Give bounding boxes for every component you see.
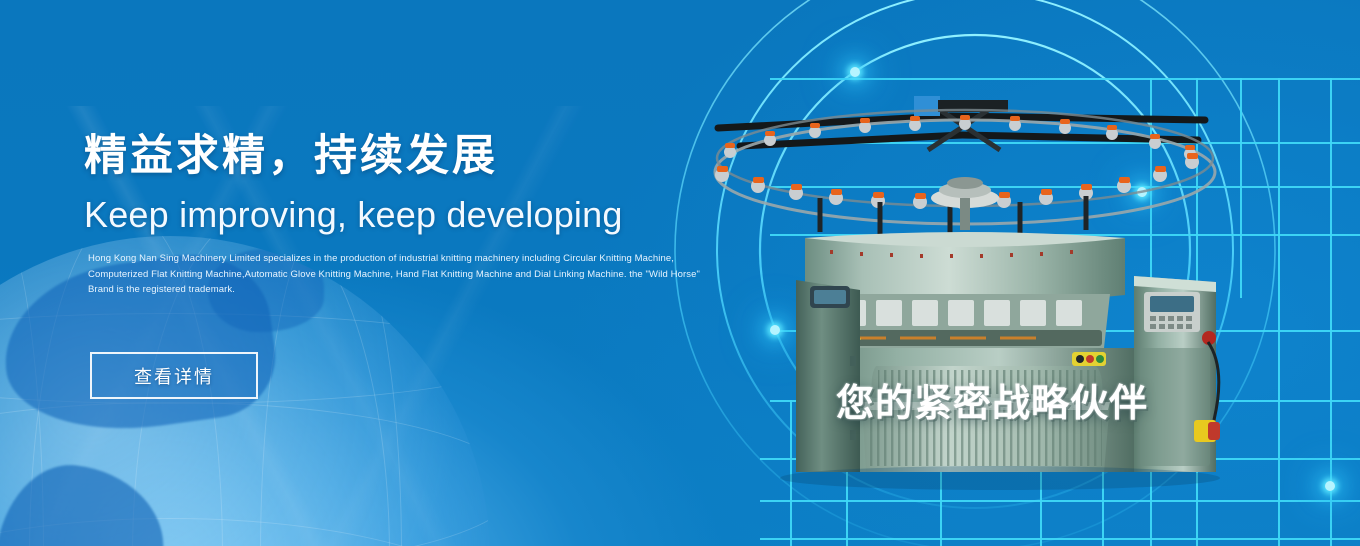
view-details-button[interactable]: 查看详情 bbox=[90, 352, 258, 399]
hero-copy-block: 精益求精，持续发展 Keep improving, keep developin… bbox=[84, 132, 724, 298]
hero-banner: 您的紧密战略伙伴 精益求精，持续发展 Keep improving, keep … bbox=[0, 0, 1360, 546]
page-title: 精益求精，持续发展 bbox=[84, 132, 724, 181]
machine-slogan: 您的紧密战略伙伴 bbox=[836, 372, 1148, 427]
company-description: Hong Kong Nan Sing Machinery Limited spe… bbox=[88, 251, 708, 298]
page-subtitle: Keep improving, keep developing bbox=[84, 195, 724, 235]
